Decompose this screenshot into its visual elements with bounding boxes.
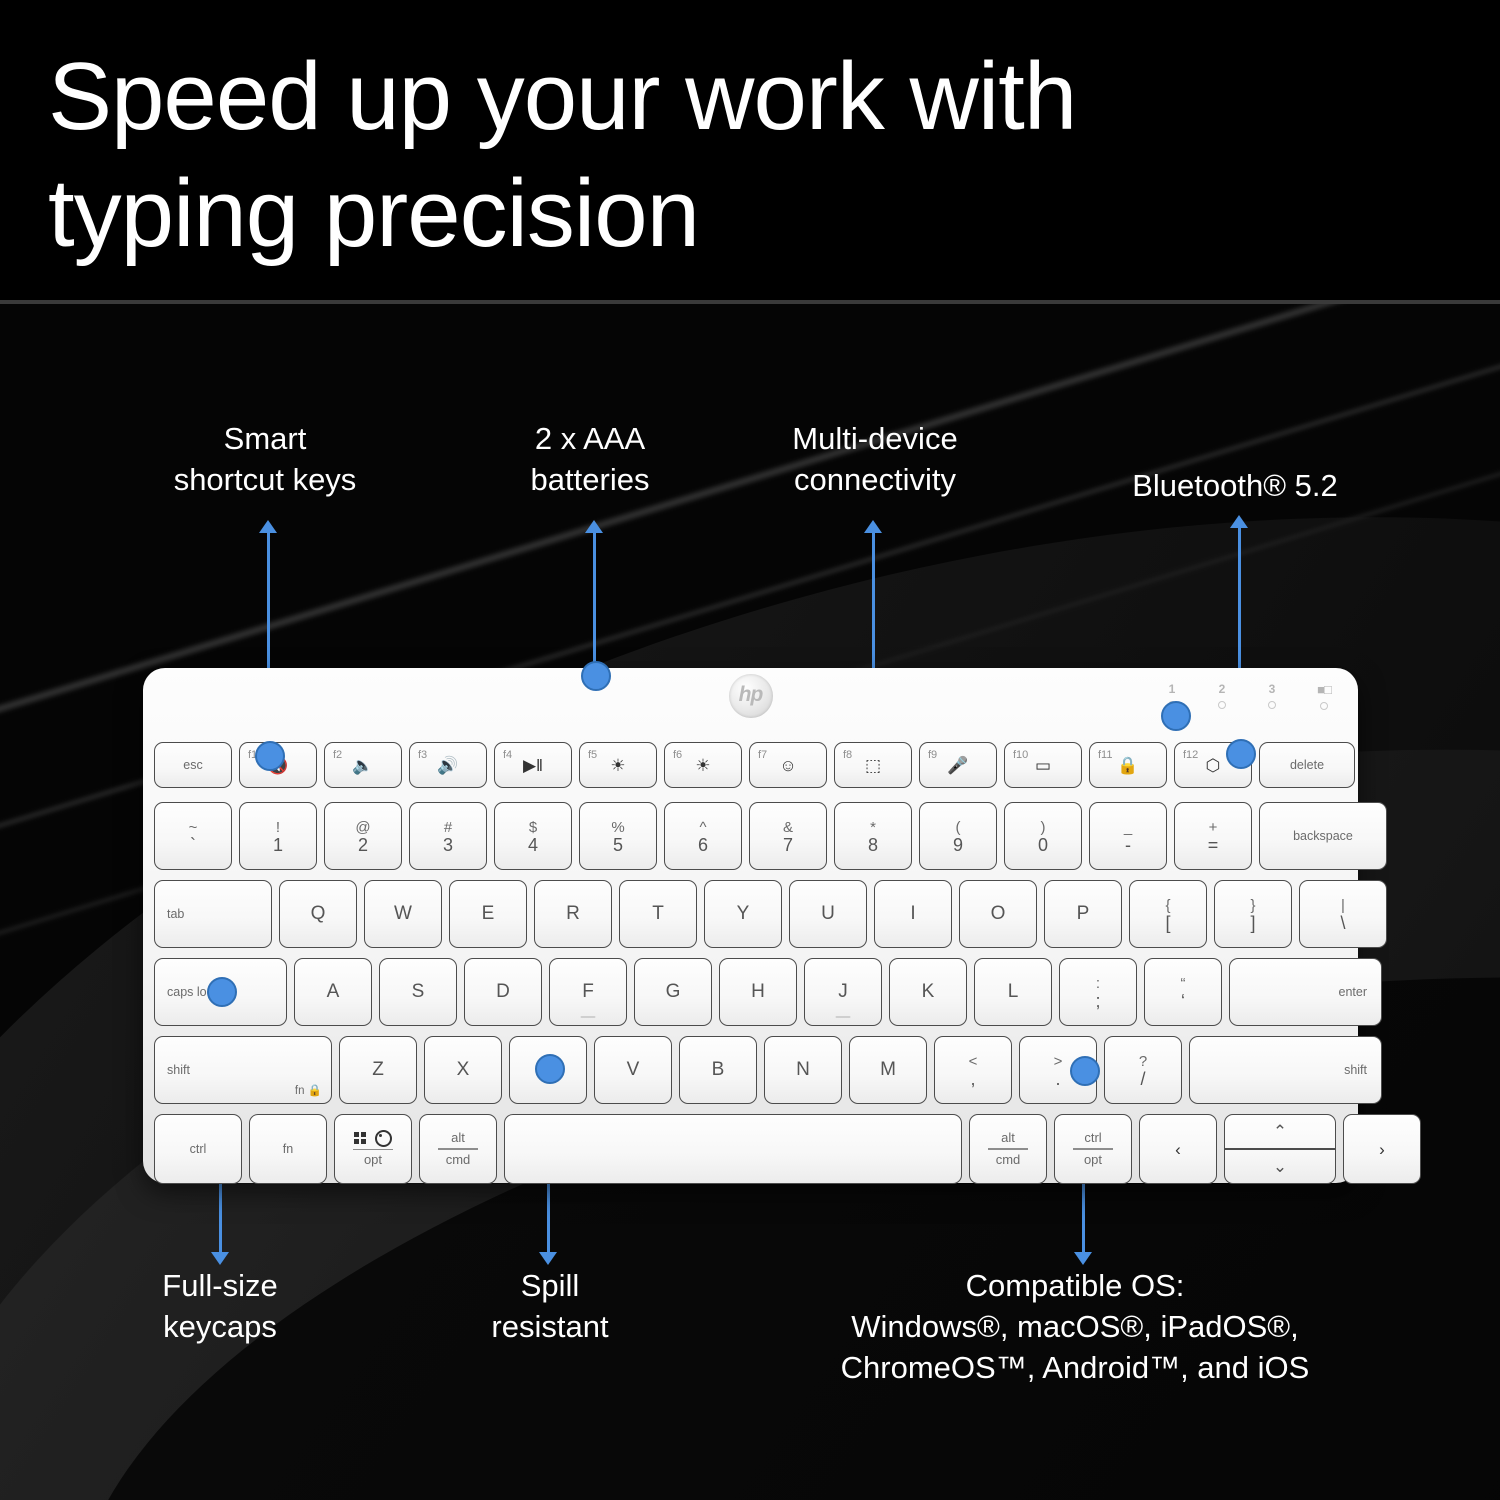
key-fn-label: f2 <box>333 749 342 761</box>
play-pause-icon: ▶‖ <box>523 757 543 774</box>
callout-compatible-os: Compatible OS: Windows®, macOS®, iPadOS®… <box>745 1265 1405 1389</box>
key-upper-legend: { <box>1165 898 1170 913</box>
leader-arrow-multidevice <box>864 520 882 533</box>
key-Q[interactable]: Q <box>279 880 357 948</box>
key-H[interactable]: H <box>719 958 797 1026</box>
key-f6[interactable]: f6☀ <box>664 742 742 788</box>
key-2[interactable]: @2 <box>324 802 402 870</box>
key-fn[interactable]: fn <box>249 1114 327 1184</box>
key-lower-legend: [ <box>1165 914 1170 932</box>
key-lower-legend: ] <box>1250 914 1255 932</box>
key-lower-legend: , <box>970 1070 975 1088</box>
key-f9[interactable]: f9🎤 <box>919 742 997 788</box>
key-‘[interactable]: “‘ <box>1144 958 1222 1026</box>
hotspot-spill-resistant[interactable] <box>535 1054 565 1084</box>
key-G[interactable]: G <box>634 958 712 1026</box>
hotspot-multi-device-connectivity[interactable] <box>1161 701 1191 731</box>
channel-1-label: 1 <box>1169 682 1176 696</box>
key-lower-legend: - <box>1125 836 1131 854</box>
key-label: I <box>910 903 915 925</box>
key-upper-legend: # <box>444 820 452 835</box>
key-divider <box>438 1148 478 1149</box>
key-I[interactable]: I <box>874 880 952 948</box>
key-backspace[interactable]: backspace <box>1259 802 1387 870</box>
key-ctrl-opt[interactable]: ctrlopt <box>1054 1114 1132 1184</box>
key-label: F <box>582 981 594 1003</box>
key-label: P <box>1077 903 1090 925</box>
key-lower-legend: 1 <box>273 836 283 854</box>
key-f3[interactable]: f3🔊 <box>409 742 487 788</box>
key-M[interactable]: M <box>849 1036 927 1104</box>
key-fn-lock-label: fn 🔒 <box>295 1083 322 1097</box>
key-label-bottom: cmd <box>446 1152 471 1168</box>
key-upper-legend: * <box>870 820 876 835</box>
key-upper-legend: _ <box>1124 820 1132 835</box>
key-label: N <box>796 1059 810 1081</box>
key-label: S <box>412 981 425 1003</box>
key-fn-label: f10 <box>1013 749 1028 761</box>
callout-full-size-keycaps: Full-size keycaps <box>90 1265 350 1347</box>
key-lower-legend: ` <box>190 836 196 854</box>
key-label: V <box>627 1059 640 1081</box>
key-delete[interactable]: delete <box>1259 742 1355 788</box>
key-f2[interactable]: f2🔈 <box>324 742 402 788</box>
key-label: E <box>482 903 495 925</box>
microphone-icon: 🎤 <box>947 757 968 774</box>
leader-arrow-spill <box>539 1252 557 1265</box>
key-label: T <box>652 903 664 925</box>
key-lower-legend: = <box>1208 836 1219 854</box>
leader-arrow-bluetooth <box>1230 515 1248 528</box>
key-divider <box>1073 1148 1113 1149</box>
hotspot-bluetooth[interactable] <box>1226 739 1256 769</box>
key-upper-legend: < <box>969 1054 978 1069</box>
key-upper-legend: “ <box>1181 976 1186 991</box>
key-label: R <box>566 903 580 925</box>
arrow-down-icon[interactable]: ⌄ <box>1225 1150 1335 1183</box>
key-O[interactable]: O <box>959 880 1037 948</box>
channel-indicator-3[interactable]: 3 <box>1261 682 1283 709</box>
key-1[interactable]: !1 <box>239 802 317 870</box>
arrow-up-icon[interactable]: ⌃ <box>1225 1115 1335 1148</box>
key-label-top: alt <box>1001 1130 1015 1146</box>
key-8[interactable]: *8 <box>834 802 912 870</box>
volume-up-icon: 🔊 <box>437 757 458 774</box>
key-label: B <box>712 1059 725 1081</box>
key-fn-label: f5 <box>588 749 597 761</box>
key-f5[interactable]: f5☀ <box>579 742 657 788</box>
key-label-bottom: cmd <box>996 1152 1021 1168</box>
callout-multi-device-connectivity: Multi-device connectivity <box>735 418 1015 500</box>
channel-3-label: 3 <box>1269 682 1276 696</box>
key-V[interactable]: V <box>594 1036 672 1104</box>
key-B[interactable]: B <box>679 1036 757 1104</box>
key-upper-legend: | <box>1341 898 1345 913</box>
key-label: D <box>496 981 510 1003</box>
key-row-numbers: ~`!1@2#3$4%5^6&7*8(9)0_-+=backspace <box>154 802 1387 870</box>
key-D[interactable]: D <box>464 958 542 1026</box>
leader-arrow-smart-shortcut <box>259 520 277 533</box>
key-fn-label: f8 <box>843 749 852 761</box>
volume-down-icon: 🔈 <box>352 757 373 774</box>
key-J[interactable]: J <box>804 958 882 1026</box>
key-;[interactable]: :; <box>1059 958 1137 1026</box>
key-label: tab <box>167 907 184 921</box>
key-label: Y <box>737 903 750 925</box>
key-lower-legend: . <box>1055 1070 1060 1088</box>
channel-2-label: 2 <box>1219 682 1226 696</box>
key-row-shift: shiftfn 🔒ZXCVBNM<,>.?/shift <box>154 1036 1382 1104</box>
key-label: O <box>991 903 1006 925</box>
leader-line-batteries <box>593 525 596 675</box>
key-label: X <box>457 1059 470 1081</box>
key-shift[interactable]: shift <box>1189 1036 1382 1104</box>
key-lower-legend: 7 <box>783 836 793 854</box>
key-divider <box>988 1148 1028 1149</box>
key-9[interactable]: (9 <box>919 802 997 870</box>
brightness-up-icon: ☀ <box>695 757 710 774</box>
search-icon <box>375 1130 392 1147</box>
callout-spill-resistant: Spill resistant <box>430 1265 670 1347</box>
key-upper-legend: $ <box>529 820 537 835</box>
key-6[interactable]: ^6 <box>664 802 742 870</box>
key-upper-legend: ^ <box>699 820 706 835</box>
leader-arrow-keycaps <box>211 1252 229 1265</box>
hotspot-smart-shortcut-keys[interactable] <box>255 741 285 771</box>
key-upper-legend: > <box>1054 1054 1063 1069</box>
leader-arrow-batteries <box>585 520 603 533</box>
key-E[interactable]: E <box>449 880 527 948</box>
callout-bluetooth-version: Bluetooth® 5.2 <box>1075 465 1395 506</box>
lock-icon: 🔒 <box>1117 757 1138 774</box>
key-L[interactable]: L <box>974 958 1052 1026</box>
key-spacebar[interactable] <box>504 1114 962 1184</box>
key-row-function: escf1🔇f2🔈f3🔊f4▶‖f5☀f6☀f7☺f8⬚f9🎤f10▭f11🔒f… <box>154 742 1355 788</box>
key-label-bottom: opt <box>1084 1152 1102 1168</box>
key-label: U <box>821 903 835 925</box>
key-R[interactable]: R <box>534 880 612 948</box>
hotspot-full-size-keycaps[interactable] <box>207 977 237 1007</box>
callout-smart-shortcut-keys: Smart shortcut keys <box>100 418 430 500</box>
key-label: M <box>880 1059 896 1081</box>
key-ctrl[interactable]: ctrl <box>154 1114 242 1184</box>
key-row-home: caps lockASDFGHJKL:;“‘enter <box>154 958 1382 1026</box>
key-5[interactable]: %5 <box>579 802 657 870</box>
key-lower-legend: 9 <box>953 836 963 854</box>
battery-icon: ■□ <box>1317 682 1331 697</box>
key-upper-legend: ( <box>956 820 961 835</box>
key-N[interactable]: N <box>764 1036 842 1104</box>
key-P[interactable]: P <box>1044 880 1122 948</box>
header-divider <box>0 300 1500 304</box>
callout-aaa-batteries: 2 x AAA batteries <box>440 418 740 500</box>
keyboard: hp 1 2 3 ■□ escf1🔇f2🔈f3🔊f4▶‖f5☀f6☀f7☺f8⬚… <box>143 668 1358 1183</box>
key-label: shift <box>1344 1063 1367 1077</box>
key-`[interactable]: ~` <box>154 802 232 870</box>
key-label: Z <box>372 1059 384 1081</box>
key-f11[interactable]: f11🔒 <box>1089 742 1167 788</box>
key-lower-legend: 6 <box>698 836 708 854</box>
key-row-qwerty: tabQWERTYUIOP{[}]|\ <box>154 880 1387 948</box>
battery-indicator: ■□ <box>1309 682 1339 710</box>
key-label: L <box>1008 981 1019 1003</box>
display-switch-icon: ▭ <box>1035 757 1051 774</box>
key-label: A <box>327 981 340 1003</box>
key-enter[interactable]: enter <box>1229 958 1382 1026</box>
leader-arrow-compatible-os <box>1074 1252 1092 1265</box>
key-label-top: alt <box>451 1130 465 1146</box>
key-upper-legend: ! <box>276 820 280 835</box>
key-arrow-right-icon[interactable]: › <box>1343 1114 1421 1184</box>
key-label-top: ctrl <box>1084 1130 1101 1146</box>
key-lower-legend: 3 <box>443 836 453 854</box>
key-W[interactable]: W <box>364 880 442 948</box>
page-title: Speed up your work with typing precision <box>48 38 1308 272</box>
hp-logo: hp <box>729 674 773 718</box>
key-lower-legend: ; <box>1095 992 1100 1010</box>
key-lower-legend: \ <box>1340 914 1345 932</box>
key-A[interactable]: A <box>294 958 372 1026</box>
brightness-down-icon: ☀ <box>610 757 625 774</box>
arrow-right-icon: › <box>1379 1141 1385 1158</box>
key-f8[interactable]: f8⬚ <box>834 742 912 788</box>
key-lower-legend: 8 <box>868 836 878 854</box>
key-fn-label: f7 <box>758 749 767 761</box>
key-label: enter <box>1339 985 1368 999</box>
key-[[interactable]: {[ <box>1129 880 1207 948</box>
key-lower-legend: 4 <box>528 836 538 854</box>
key-arrow-updown[interactable]: ⌃⌄ <box>1224 1114 1336 1184</box>
key-upper-legend: : <box>1096 976 1100 991</box>
key-label: J <box>838 981 848 1003</box>
key-label: shift <box>167 1063 190 1077</box>
key-alt-cmd[interactable]: altcmd <box>969 1114 1047 1184</box>
header-banner: Speed up your work with typing precision <box>0 0 1500 300</box>
key-f4[interactable]: f4▶‖ <box>494 742 572 788</box>
screenshot-icon: ⬚ <box>865 757 881 774</box>
key-label: W <box>394 903 412 925</box>
channel-indicator-2[interactable]: 2 <box>1211 682 1233 709</box>
channel-3-led <box>1268 701 1276 709</box>
homing-bar <box>836 1016 851 1018</box>
key--[interactable]: _- <box>1089 802 1167 870</box>
key-upper-legend: % <box>611 820 624 835</box>
key-,[interactable]: <, <box>934 1036 1012 1104</box>
key-T[interactable]: T <box>619 880 697 948</box>
key-fn-label: f9 <box>928 749 937 761</box>
key-upper-legend: + <box>1209 820 1218 835</box>
key-\[interactable]: |\ <box>1299 880 1387 948</box>
key-label: Q <box>311 903 326 925</box>
key-esc[interactable]: esc <box>154 742 232 788</box>
key-row-bottom: ctrlfnoptaltcmdaltcmdctrlopt‹⌃⌄› <box>154 1114 1421 1184</box>
key-7[interactable]: &7 <box>749 802 827 870</box>
key-Y[interactable]: Y <box>704 880 782 948</box>
windows-icon <box>354 1132 366 1144</box>
key-shift[interactable]: shiftfn 🔒 <box>154 1036 332 1104</box>
key-windows-opt[interactable]: opt <box>334 1114 412 1184</box>
channel-2-led <box>1218 701 1226 709</box>
key-upper-legend: & <box>783 820 793 835</box>
key-U[interactable]: U <box>789 880 867 948</box>
key-0[interactable]: )0 <box>1004 802 1082 870</box>
hp-logo-text: hp <box>729 683 773 707</box>
key-lower-legend: / <box>1140 1070 1145 1088</box>
bluetooth-icon: ⬡ <box>1206 757 1221 774</box>
key-/[interactable]: ?/ <box>1104 1036 1182 1104</box>
key-label: G <box>666 981 681 1003</box>
key-3[interactable]: #3 <box>409 802 487 870</box>
hotspot-aaa-batteries[interactable] <box>581 661 611 691</box>
key-K[interactable]: K <box>889 958 967 1026</box>
key-fn-label: f11 <box>1098 749 1112 761</box>
key-upper-legend: ? <box>1139 1054 1147 1069</box>
key-fn-label: f4 <box>503 749 512 761</box>
key-fn-label: f12 <box>1183 749 1198 761</box>
key-lower-legend: 2 <box>358 836 368 854</box>
key-F[interactable]: F <box>549 958 627 1026</box>
key-f7[interactable]: f7☺ <box>749 742 827 788</box>
key-X[interactable]: X <box>424 1036 502 1104</box>
key-lower-legend: 0 <box>1038 836 1048 854</box>
key-=[interactable]: += <box>1174 802 1252 870</box>
key-upper-legend: ~ <box>189 820 198 835</box>
arrow-left-icon: ‹ <box>1175 1141 1181 1158</box>
key-arrow-left-icon[interactable]: ‹ <box>1139 1114 1217 1184</box>
key-label: H <box>751 981 765 1003</box>
key-Z[interactable]: Z <box>339 1036 417 1104</box>
homing-bar <box>581 1016 596 1018</box>
key-upper-legend: @ <box>355 820 370 835</box>
hotspot-compatible-os[interactable] <box>1070 1056 1100 1086</box>
key-lower-legend: ‘ <box>1181 992 1185 1010</box>
key-lower-legend: 5 <box>613 836 623 854</box>
key-alt-cmd[interactable]: altcmd <box>419 1114 497 1184</box>
key-divider <box>353 1149 393 1150</box>
key-label-bottom: opt <box>364 1152 382 1168</box>
key-upper-legend: ) <box>1041 820 1046 835</box>
battery-led <box>1320 702 1328 710</box>
key-label: K <box>922 981 935 1003</box>
keyboard-key-surface: escf1🔇f2🔈f3🔊f4▶‖f5☀f6☀f7☺f8⬚f9🎤f10▭f11🔒f… <box>154 720 1347 1171</box>
key-fn-label: f6 <box>673 749 682 761</box>
key-][interactable]: }] <box>1214 880 1292 948</box>
key-upper-legend: } <box>1250 898 1255 913</box>
key-4[interactable]: $4 <box>494 802 572 870</box>
key-f10[interactable]: f10▭ <box>1004 742 1082 788</box>
emoji-icon: ☺ <box>779 757 796 774</box>
key-S[interactable]: S <box>379 958 457 1026</box>
key-tab[interactable]: tab <box>154 880 272 948</box>
key-fn-label: f3 <box>418 749 427 761</box>
